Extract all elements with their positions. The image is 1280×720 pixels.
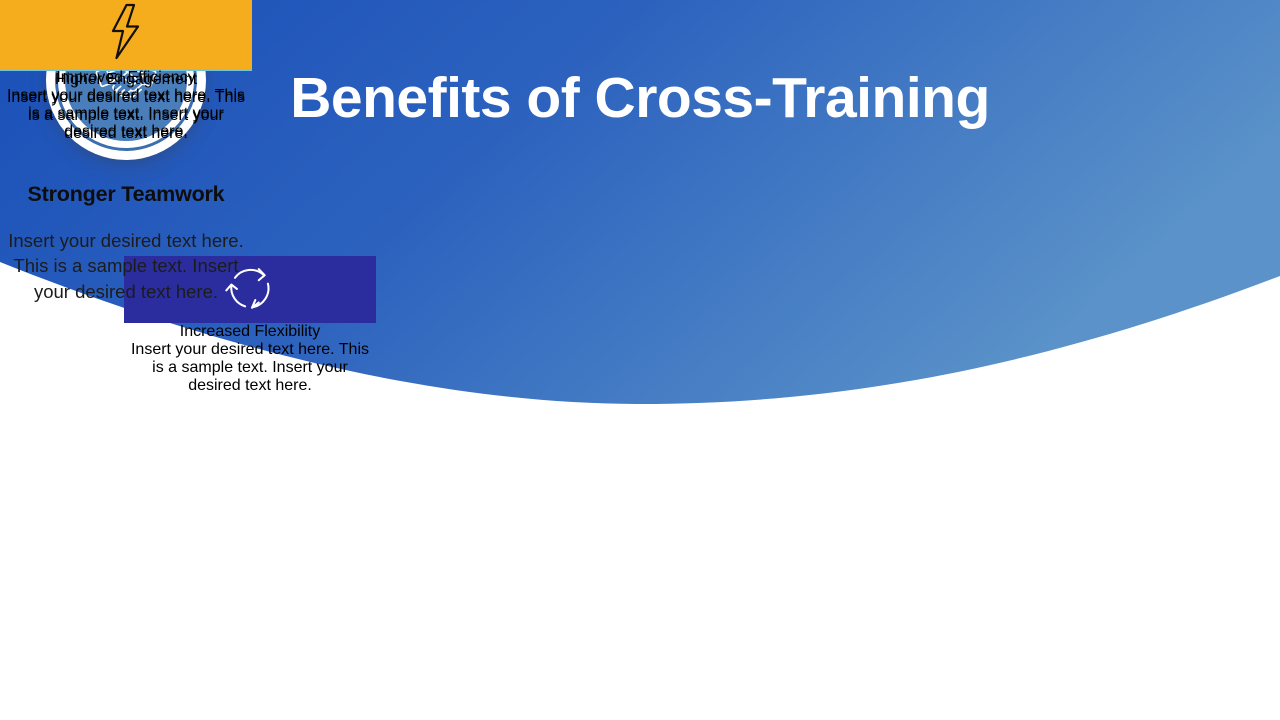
lightning-bolt-icon [97,0,155,64]
card-body-text: Insert your desired text here. This is a… [0,228,252,305]
card-body-text: Insert your desired text here. This is a… [124,341,376,395]
slide-canvas: Benefits of Cross-Training [0,0,1280,720]
card-heading: Increased Flexibility [124,323,376,341]
card-body-text: Insert your desired text here. This is a… [0,87,252,141]
card-heading: Improved Efficiency [0,69,252,87]
badge-fill-disc [0,0,252,69]
card-heading: Stronger Teamwork [0,182,252,208]
benefit-card-improved-efficiency[interactable]: Improved Efficiency Insert your desired … [0,0,252,141]
icon-badge[interactable] [0,0,252,69]
